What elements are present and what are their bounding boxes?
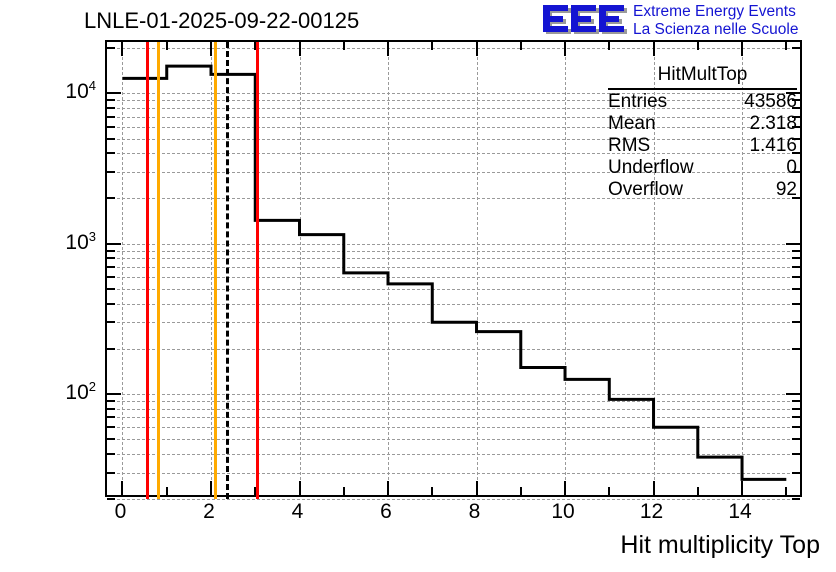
x-axis-tick-label: 10 xyxy=(551,500,574,524)
marker-line-mean-dashed xyxy=(226,42,229,499)
y-axis-tick-label: 102 xyxy=(65,379,96,405)
x-axis-tick-label: 8 xyxy=(469,500,481,524)
x-axis-tick-label: 2 xyxy=(203,500,215,524)
stats-key: Underflow xyxy=(608,157,694,179)
y-axis-tick-label: 103 xyxy=(65,229,96,255)
stats-value: 1.416 xyxy=(749,135,797,157)
stats-row: Underflow0 xyxy=(608,157,797,179)
stats-value: 92 xyxy=(776,179,797,201)
marker-line-red-left xyxy=(146,42,149,499)
eee-logo-text: Extreme Energy Events La Scienza nelle S… xyxy=(633,3,833,39)
stats-rows: Entries43586Mean2.318RMS1.416Underflow0O… xyxy=(608,91,797,201)
x-axis-tick-label: 12 xyxy=(640,500,663,524)
stats-value: 2.318 xyxy=(749,113,797,135)
root-canvas: LNLE-01-2025-09-22-00125 xyxy=(0,0,836,572)
x-axis-tick-label: 6 xyxy=(380,500,392,524)
stats-row: Entries43586 xyxy=(608,91,797,113)
stats-row: Overflow92 xyxy=(608,179,797,201)
stats-value: 43586 xyxy=(744,91,797,113)
page-title: LNLE-01-2025-09-22-00125 xyxy=(84,8,359,34)
x-axis-tick-label: 0 xyxy=(115,500,127,524)
stats-key: Mean xyxy=(608,113,656,135)
stats-key: Entries xyxy=(608,91,667,113)
stats-row: Mean2.318 xyxy=(608,113,797,135)
stats-key: RMS xyxy=(608,135,650,157)
marker-line-orange-right xyxy=(214,42,217,499)
marker-line-red-right xyxy=(256,42,259,499)
y-axis-tick-label: 104 xyxy=(65,78,96,104)
x-axis-title: Hit multiplicity Top xyxy=(620,531,820,560)
stats-title: HitMultTop xyxy=(608,64,797,90)
eee-logo-line1: Extreme Energy Events xyxy=(633,3,833,21)
marker-line-orange-left xyxy=(157,42,160,499)
stats-box: HitMultTop Entries43586Mean2.318RMS1.416… xyxy=(608,64,797,201)
eee-logo-mark xyxy=(541,2,629,38)
stats-value: 0 xyxy=(786,157,797,179)
x-axis-tick-label: 4 xyxy=(292,500,304,524)
eee-logo-line2: La Scienza nelle Scuole xyxy=(633,21,833,39)
stats-key: Overflow xyxy=(608,179,683,201)
x-axis-tick-label: 14 xyxy=(728,500,751,524)
stats-row: RMS1.416 xyxy=(608,135,797,157)
eee-logo: Extreme Energy Events La Scienza nelle S… xyxy=(541,2,833,42)
